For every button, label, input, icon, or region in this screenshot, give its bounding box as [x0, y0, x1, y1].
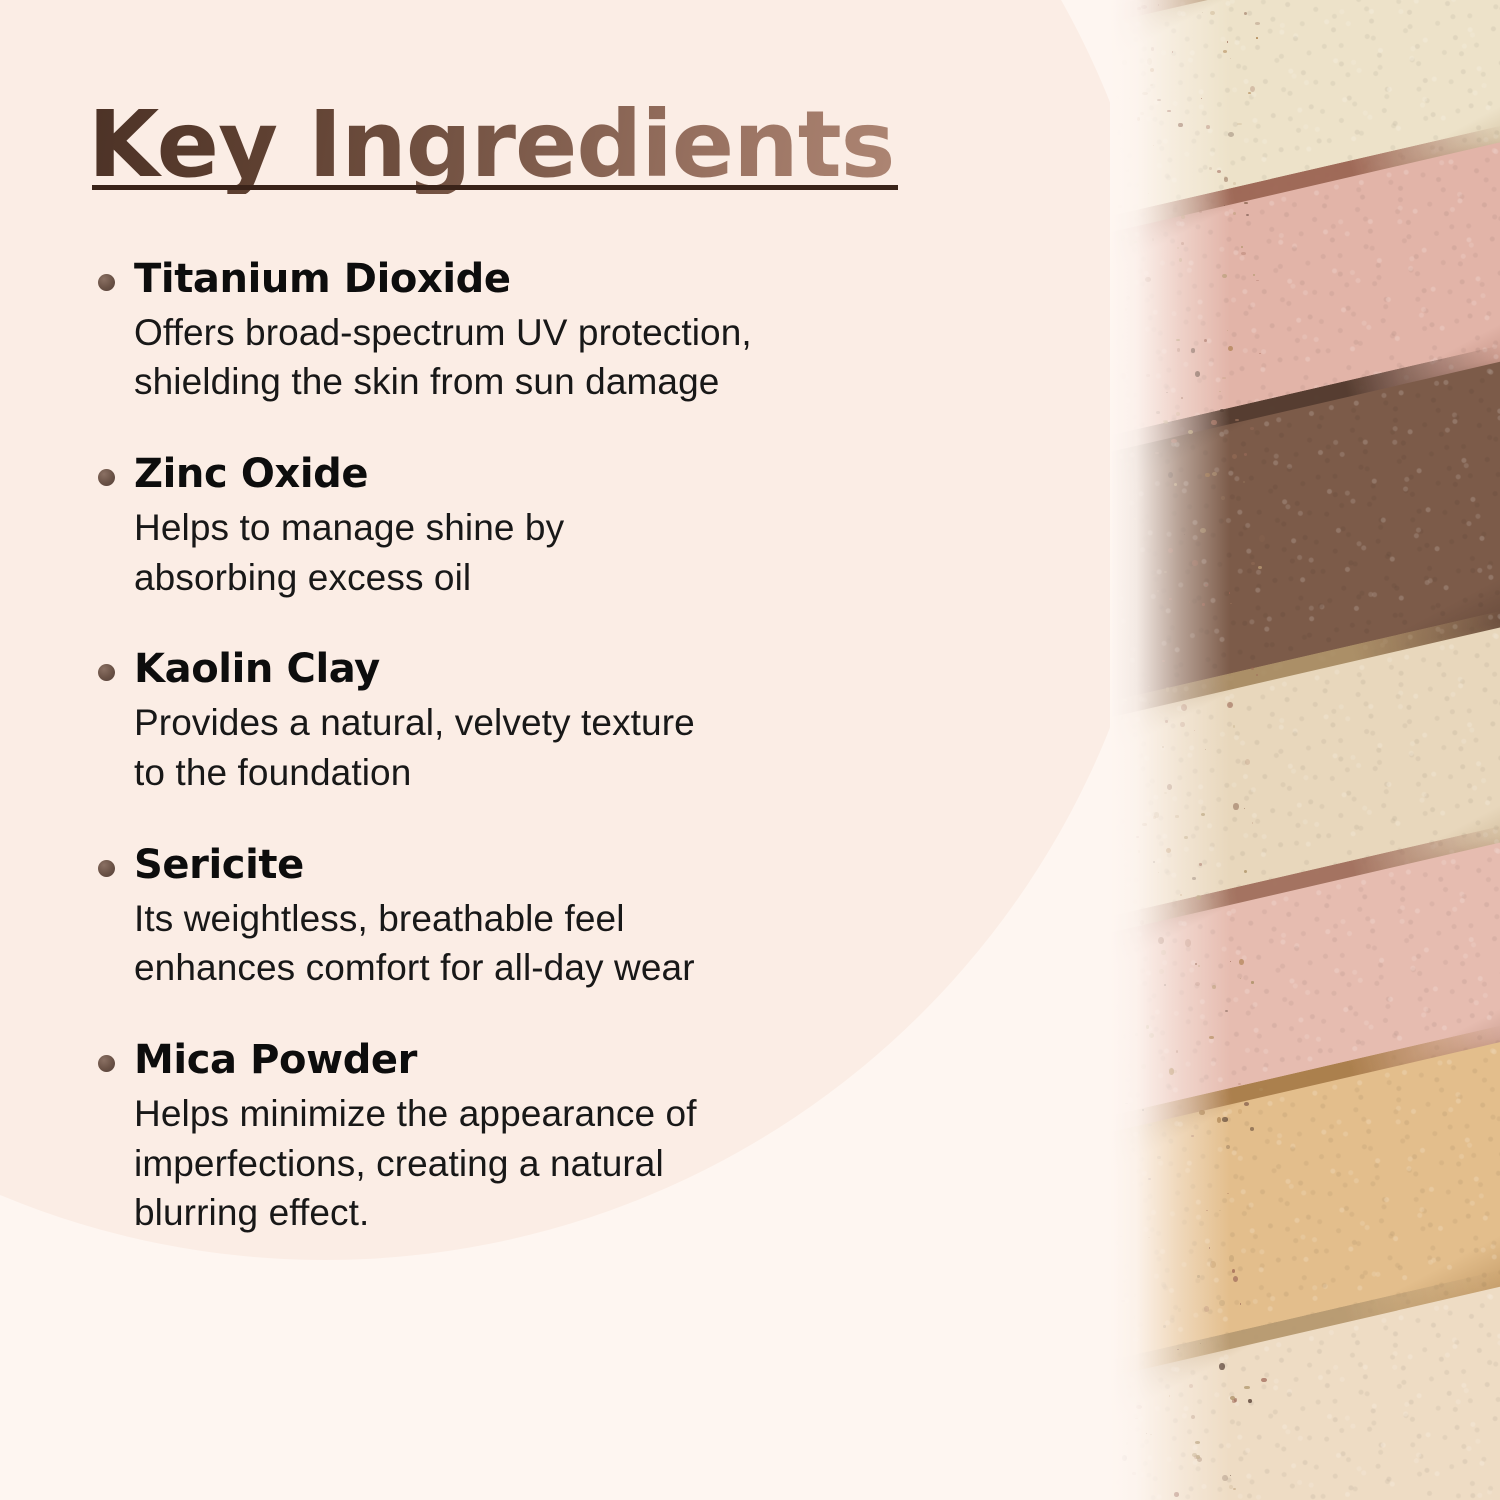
list-item: Mica Powder Helps minimize the appearanc… — [88, 1037, 1060, 1238]
list-item: Kaolin Clay Provides a natural, velvety … — [88, 646, 1060, 797]
ingredient-description: Helps minimize the appearance of imperfe… — [134, 1089, 1060, 1238]
key-ingredients-page: Key Ingredients Titanium Dioxide Offers … — [0, 0, 1500, 1500]
ingredient-name: Mica Powder — [134, 1037, 1060, 1084]
bullet-dot-icon — [98, 1055, 115, 1072]
ingredient-description: Provides a natural, velvety texture to t… — [134, 698, 1060, 797]
ingredient-name: Titanium Dioxide — [134, 256, 1060, 303]
list-item: Titanium Dioxide Offers broad-spectrum U… — [88, 256, 1060, 407]
bullet-dot-icon — [98, 469, 115, 486]
bullet-dot-icon — [98, 860, 115, 877]
powder-band-stack — [1110, 0, 1500, 1500]
ingredient-description: Offers broad-spectrum UV protection, shi… — [134, 308, 1060, 407]
title-underline — [92, 185, 898, 190]
list-item: Zinc Oxide Helps to manage shine by abso… — [88, 451, 1060, 602]
page-title: Key Ingredients — [88, 96, 894, 194]
page-title-wrap: Key Ingredients — [88, 96, 894, 194]
ingredient-name: Zinc Oxide — [134, 451, 1060, 498]
list-item: Sericite Its weightless, breathable feel… — [88, 842, 1060, 993]
bullet-dot-icon — [98, 664, 115, 681]
ingredient-name: Sericite — [134, 842, 1060, 889]
ingredient-description: Its weightless, breathable feel enhances… — [134, 894, 1060, 993]
bullet-dot-icon — [98, 274, 115, 291]
ingredient-name: Kaolin Clay — [134, 646, 1060, 693]
ingredient-description: Helps to manage shine by absorbing exces… — [134, 503, 1060, 602]
ingredients-content: Key Ingredients Titanium Dioxide Offers … — [0, 0, 1100, 1500]
powder-swatch-image — [1110, 0, 1500, 1500]
ingredients-list: Titanium Dioxide Offers broad-spectrum U… — [88, 256, 1060, 1238]
